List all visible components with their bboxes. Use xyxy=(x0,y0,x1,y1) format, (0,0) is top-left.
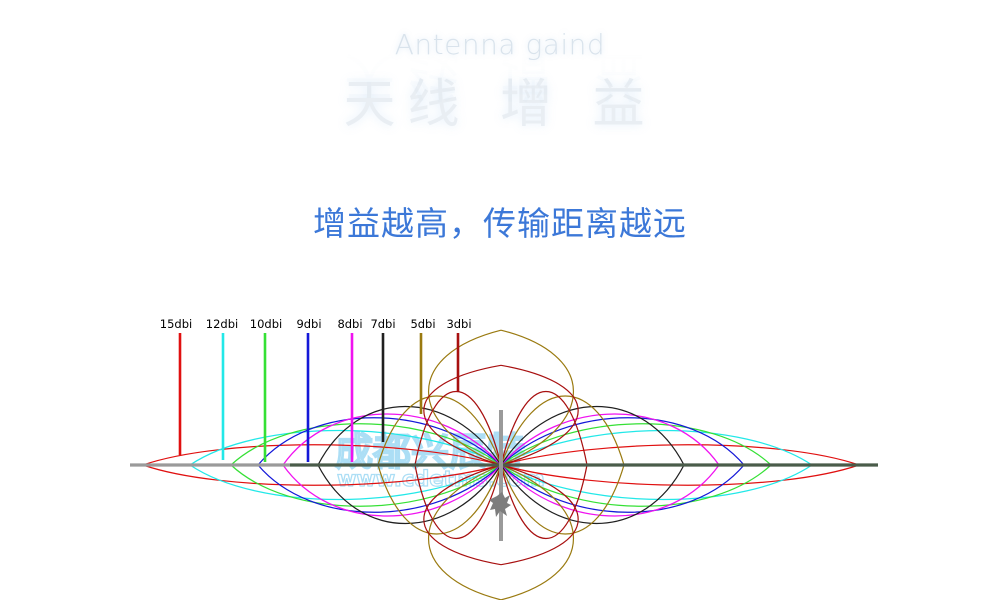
header-banner-inner: Antenna gaind 天线 增 益 天线 增 益 xyxy=(0,0,1000,152)
gain-label-8dbi: 8dbi xyxy=(337,317,362,331)
subtitle-text: 增益越高，传输距离越远 xyxy=(0,197,1000,245)
header-english-title: Antenna gaind xyxy=(0,28,1000,61)
antenna-pattern-svg: 成都兴辰特www.cdetms.com 15dbi12dbi10dbi9dbi8… xyxy=(0,290,1000,600)
slide-page: Antenna gaind 天线 增 益 天线 增 益 增益越高，传输距离越远 … xyxy=(0,0,1000,609)
gain-label-5dbi: 5dbi xyxy=(410,317,435,331)
gain-label-10dbi: 10dbi xyxy=(250,317,282,331)
header-chinese-title: 天线 增 益 xyxy=(0,62,1000,137)
antenna-gain-diagram: 成都兴辰特www.cdetms.com 15dbi12dbi10dbi9dbi8… xyxy=(0,290,1000,590)
gain-label-7dbi: 7dbi xyxy=(370,317,395,331)
header-banner: Antenna gaind 天线 增 益 天线 增 益 xyxy=(0,0,1000,152)
gain-label-9dbi: 9dbi xyxy=(296,317,321,331)
gain-labels: 15dbi12dbi10dbi9dbi8dbi7dbi5dbi3dbi xyxy=(160,317,472,331)
gain-label-12dbi: 12dbi xyxy=(206,317,238,331)
gain-label-3dbi: 3dbi xyxy=(446,317,471,331)
gain-label-15dbi: 15dbi xyxy=(160,317,192,331)
